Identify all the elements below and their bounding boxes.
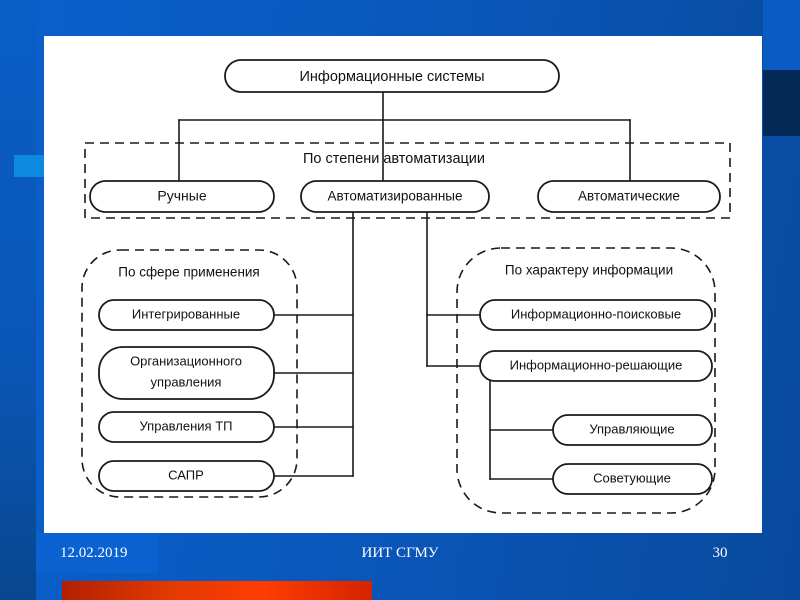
node-automatic[interactable]: Автоматические <box>538 181 720 212</box>
node-organizational-management-label-line1: Организационного <box>130 353 242 368</box>
group-label-application-area: По сфере применения <box>118 265 260 280</box>
diagram-canvas: По степени автоматизации По сфере примен… <box>44 36 762 533</box>
node-automated[interactable]: Автоматизированные <box>301 181 489 212</box>
node-root-label: Информационные системы <box>299 69 484 85</box>
group-label-information-character: По характеру информации <box>505 263 673 278</box>
footer-page-number: 30 <box>700 545 740 562</box>
group-label-automation: По степени автоматизации <box>303 151 485 167</box>
node-process-control-label: Управления ТП <box>140 418 233 433</box>
node-manual[interactable]: Ручные <box>90 181 274 212</box>
right-dark-accent-block <box>763 70 800 136</box>
node-information-retrieval-label: Информационно-поисковые <box>511 306 681 321</box>
node-cad-label: САПР <box>168 467 204 482</box>
node-automated-label: Автоматизированные <box>327 189 462 204</box>
node-information-retrieval[interactable]: Информационно-поисковые <box>480 300 712 330</box>
node-controlling[interactable]: Управляющие <box>553 415 712 445</box>
node-information-decision[interactable]: Информационно-решающие <box>480 351 712 381</box>
node-cad[interactable]: САПР <box>99 461 274 491</box>
node-process-control[interactable]: Управления ТП <box>99 412 274 442</box>
node-automatic-label: Автоматические <box>578 189 680 204</box>
presentation-slide: По степени автоматизации По сфере примен… <box>0 0 800 600</box>
footer-center-text: ИИТ СГМУ <box>0 545 800 562</box>
node-root[interactable]: Информационные системы <box>225 60 559 92</box>
left-accent-block <box>14 155 44 177</box>
right-accent-strip <box>763 0 800 70</box>
node-manual-label: Ручные <box>157 188 206 204</box>
slide-left-band <box>0 0 36 600</box>
node-advisory[interactable]: Советующие <box>553 464 712 494</box>
node-organizational-management[interactable]: Организационного управления <box>99 347 274 399</box>
footer-red-accent-bar <box>62 581 372 600</box>
node-controlling-label: Управляющие <box>589 421 674 436</box>
node-organizational-management-label-line2: управления <box>151 374 222 389</box>
node-integrated-label: Интегрированные <box>132 306 240 321</box>
node-integrated[interactable]: Интегрированные <box>99 300 274 330</box>
node-information-decision-label: Информационно-решающие <box>510 357 683 372</box>
node-advisory-label: Советующие <box>593 470 671 485</box>
